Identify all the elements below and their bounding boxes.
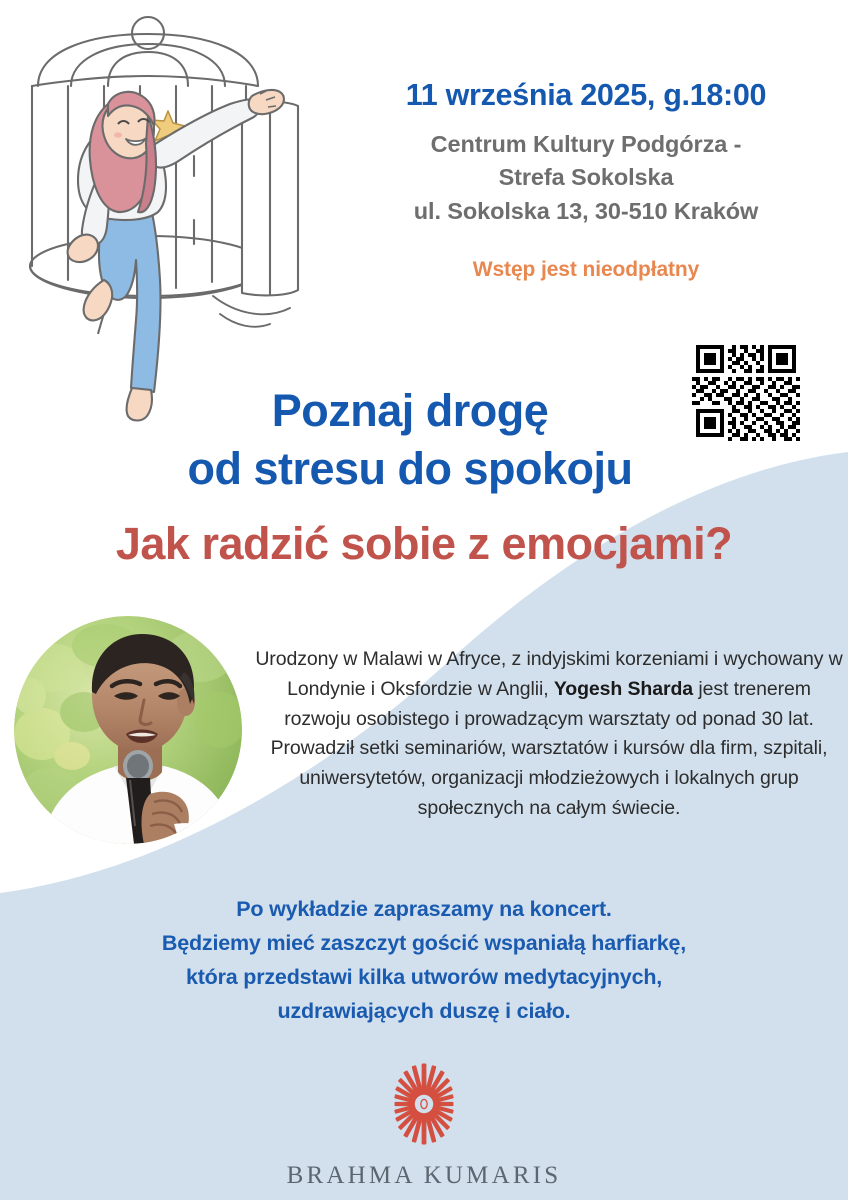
concert-announcement: Po wykładzie zapraszamy na koncert. Będz… [24,893,824,1029]
event-date: 11 września 2025, g.18:00 [330,78,842,114]
headline-line-2: od stresu do spokoju [110,440,710,498]
woman-escaping-birdcage-illustration [8,8,318,423]
admission-notice: Wstęp jest nieodpłatny [330,258,842,282]
brand-logo: BRAHMA KUMARIS [0,1058,848,1190]
venue-line-2: Strefa Sokolska [330,161,842,194]
headline-question: Jak radzić sobie z emocjami? [10,517,838,571]
concert-line-4: uzdrawiających duszę i ciało. [24,995,824,1029]
concert-line-1: Po wykładzie zapraszamy na koncert. [24,893,824,927]
poster-canvas: 11 września 2025, g.18:00 Centrum Kultur… [0,0,848,1200]
event-info-block: 11 września 2025, g.18:00 Centrum Kultur… [330,78,842,282]
starburst-icon [378,1058,470,1150]
venue-address: Centrum Kultury Podgórza - Strefa Sokols… [330,128,842,228]
concert-line-3: która przedstawi kilka utworów medytacyj… [24,961,824,995]
concert-line-2: Będziemy mieć zaszczyt gościć wspaniałą … [24,927,824,961]
speaker-bio: Urodzony w Malawi w Afryce, z indyjskimi… [252,645,846,824]
speaker-portrait-photo [14,616,242,844]
page-title: Poznaj drogę od stresu do spokoju [110,382,710,497]
qr-code-icon[interactable] [688,341,804,445]
headline-line-1: Poznaj drogę [110,382,710,440]
venue-line-1: Centrum Kultury Podgórza - [330,128,842,161]
brand-name: BRAHMA KUMARIS [0,1162,848,1190]
venue-line-3: ul. Sokolska 13, 30-510 Kraków [330,195,842,228]
speaker-name: Yogesh Sharda [554,678,693,700]
